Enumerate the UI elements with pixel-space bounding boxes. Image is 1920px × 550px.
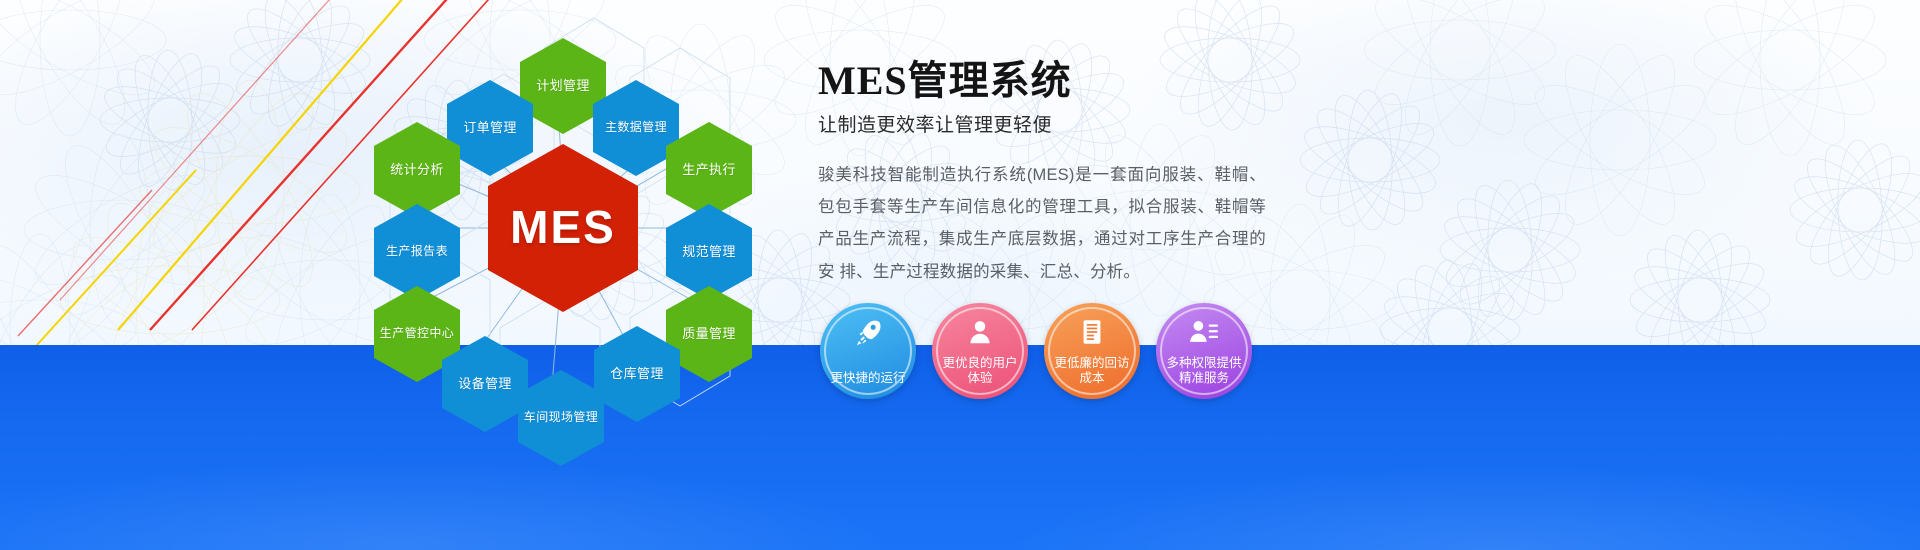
hex-label: 车间现场管理 [524,411,598,424]
mes-hexagon-diagram: 计划管理 订单管理 主数据管理 统计分析 生产执行 生产报告表 规范管理 生产管… [330,18,800,438]
feature-badge-3[interactable]: 多种权限提供精准服务 [1156,303,1252,399]
hex-label: 订单管理 [463,121,517,136]
hex-center-label: MES [510,202,616,254]
feature-badge-label: 更优良的用户体验 [937,356,1023,386]
feature-badge-0[interactable]: 更快捷的运行 [820,303,916,399]
banner-stage: 计划管理 订单管理 主数据管理 统计分析 生产执行 生产报告表 规范管理 生产管… [0,0,1920,550]
document-icon [1077,317,1107,351]
feature-badges: 更快捷的运行 更优良的用户体验 [820,303,1252,399]
copy-block: MES管理系统 让制造更效率让管理更轻便 骏美科技智能制造执行系统(MES)是一… [818,60,1338,288]
rocket-icon [853,317,883,351]
feature-badge-2[interactable]: 更低廉的回访成本 [1044,303,1140,399]
hex-label: 主数据管理 [605,121,667,134]
page-subtitle: 让制造更效率让管理更轻便 [818,110,1338,137]
hex-label: 设备管理 [458,377,512,392]
feature-badge-label: 更快捷的运行 [825,371,911,386]
hex-label: 计划管理 [536,79,590,94]
hex-label: 生产管控中心 [380,327,454,340]
feature-badge-label: 更低廉的回访成本 [1049,356,1135,386]
hex-label: 统计分析 [390,163,444,178]
user-icon [965,317,995,351]
hex-label: 质量管理 [682,327,736,342]
permissions-icon [1188,317,1220,351]
hex-label: 规范管理 [682,245,736,260]
description-paragraph: 骏美科技智能制造执行系统(MES)是一套面向服装、鞋帽、包包手套等生产车间信息化… [818,159,1266,288]
feature-badge-1[interactable]: 更优良的用户体验 [932,303,1028,399]
page-title: MES管理系统 [818,60,1338,102]
feature-badge-label: 多种权限提供精准服务 [1161,356,1247,386]
hex-label: 仓库管理 [610,367,664,382]
hex-label: 生产执行 [682,163,736,178]
hex-label: 生产报告表 [386,245,448,258]
